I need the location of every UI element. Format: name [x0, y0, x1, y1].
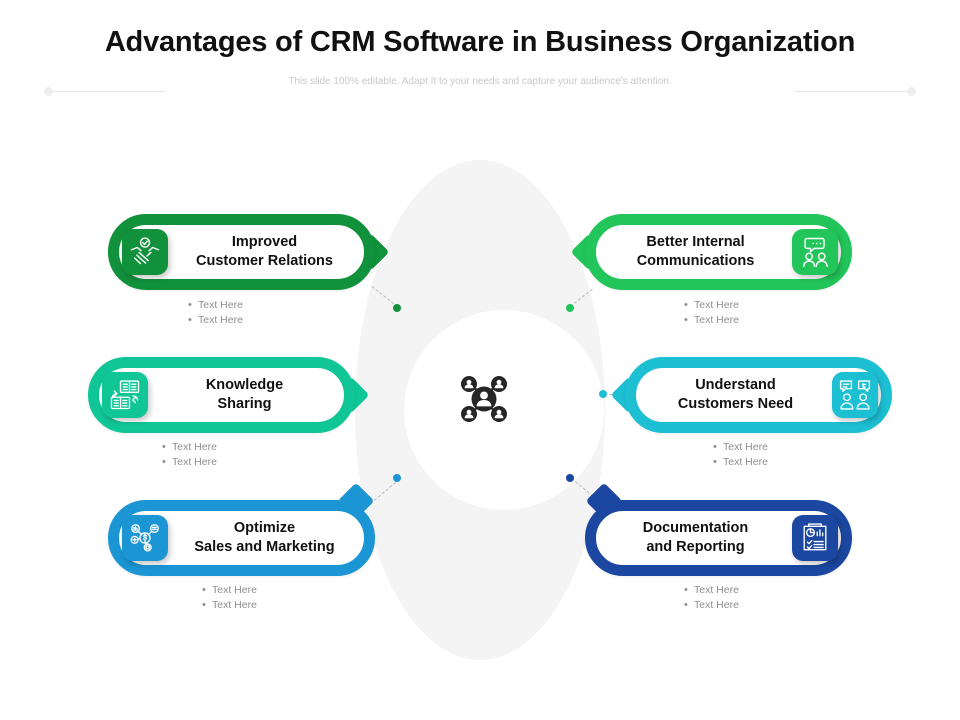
bullet-marker: •: [684, 583, 694, 598]
list-item: • Text Here: [713, 440, 913, 455]
bullet-label: Text Here: [212, 598, 402, 612]
card-title: Improved Customer Relations: [168, 233, 361, 270]
list-item: • Text Here: [202, 583, 402, 598]
list-item: • Text Here: [684, 298, 884, 313]
bullets-knowledge-sharing: • Text Here • Text Here: [162, 440, 362, 470]
card-title: Knowledge Sharing: [148, 376, 341, 413]
card-title-line2: Sharing: [218, 396, 272, 412]
clipboard-report-icon: [792, 515, 838, 561]
bullet-marker: •: [188, 313, 198, 328]
card-title-line1: Documentation: [643, 520, 749, 536]
bullet-label: Text Here: [694, 298, 884, 312]
card-title-line1: Better Internal: [646, 234, 744, 250]
card-understand-customers-need[interactable]: Understand Customers Need: [625, 357, 892, 433]
page-title: Advantages of CRM Software in Business O…: [0, 26, 960, 59]
page-subtitle: This slide 100% editable. Adapt It to yo…: [0, 76, 960, 87]
bullet-marker: •: [162, 440, 172, 455]
card-title: Understand Customers Need: [639, 376, 832, 413]
decorative-rule-right: [794, 91, 914, 92]
card-title-line1: Improved: [232, 234, 297, 250]
bullet-label: Text Here: [723, 455, 913, 469]
bullets-improved-customer-relations: • Text Here • Text Here: [188, 298, 388, 328]
list-item: • Text Here: [188, 313, 388, 328]
bullet-marker: •: [684, 298, 694, 313]
card-documentation-and-reporting[interactable]: Documentation and Reporting: [585, 500, 852, 576]
bullets-understand-customers-need: • Text Here • Text Here: [713, 440, 913, 470]
card-optimize-sales-and-marketing[interactable]: Optimize Sales and Marketing: [108, 500, 375, 576]
card-title: Documentation and Reporting: [599, 519, 792, 556]
bullets-better-internal-communications: • Text Here • Text Here: [684, 298, 884, 328]
list-item: • Text Here: [684, 583, 884, 598]
card-knowledge-sharing[interactable]: Knowledge Sharing: [88, 357, 355, 433]
bullet-label: Text Here: [212, 583, 402, 597]
connector-dot-improved-customer-relations: [393, 304, 401, 312]
card-title-line2: and Reporting: [646, 539, 744, 555]
connector-dot-documentation-and-reporting: [566, 474, 574, 482]
bullet-marker: •: [188, 298, 198, 313]
list-item: • Text Here: [684, 313, 884, 328]
bullet-marker: •: [162, 455, 172, 470]
bullet-marker: •: [202, 598, 212, 613]
list-item: • Text Here: [684, 598, 884, 613]
bullets-optimize-sales-and-marketing: • Text Here • Text Here: [202, 583, 402, 613]
list-item: • Text Here: [188, 298, 388, 313]
card-title: Optimize Sales and Marketing: [168, 519, 361, 556]
card-title-line2: Customers Need: [678, 396, 793, 412]
connector-dot-understand-customers-need: [599, 390, 607, 398]
handshake-check-icon: [122, 229, 168, 275]
list-item: • Text Here: [162, 455, 362, 470]
decorative-dot-right: [907, 87, 916, 96]
decorative-dot-left: [44, 87, 53, 96]
card-title-line1: Understand: [695, 377, 776, 393]
bullet-marker: •: [713, 455, 723, 470]
connector-dot-better-internal-communications: [566, 304, 574, 312]
bullet-label: Text Here: [723, 440, 913, 454]
card-title-line2: Sales and Marketing: [194, 539, 334, 555]
bullet-marker: •: [684, 313, 694, 328]
crm-network-people-icon: [448, 363, 520, 435]
card-improved-customer-relations[interactable]: Improved Customer Relations: [108, 214, 375, 290]
bullet-label: Text Here: [694, 583, 884, 597]
card-title-line2: Communications: [637, 253, 755, 269]
connector-dot-optimize-sales-and-marketing: [393, 474, 401, 482]
bullet-marker: •: [684, 598, 694, 613]
bullets-documentation-and-reporting: • Text Here • Text Here: [684, 583, 884, 613]
network-dollar-icon: [122, 515, 168, 561]
bullet-marker: •: [713, 440, 723, 455]
decorative-rule-left: [46, 91, 166, 92]
two-people-speech-icon: [832, 372, 878, 418]
list-item: • Text Here: [202, 598, 402, 613]
card-title-line1: Knowledge: [206, 377, 283, 393]
card-better-internal-communications[interactable]: Better Internal Communications: [585, 214, 852, 290]
chat-people-icon: [792, 229, 838, 275]
bullet-label: Text Here: [198, 298, 388, 312]
bullet-label: Text Here: [694, 598, 884, 612]
bullet-label: Text Here: [694, 313, 884, 327]
card-title-line1: Optimize: [234, 520, 295, 536]
list-item: • Text Here: [162, 440, 362, 455]
books-exchange-icon: [102, 372, 148, 418]
card-title: Better Internal Communications: [599, 233, 792, 270]
bullet-label: Text Here: [172, 455, 362, 469]
list-item: • Text Here: [713, 455, 913, 470]
bullet-label: Text Here: [198, 313, 388, 327]
bullet-marker: •: [202, 583, 212, 598]
bullet-label: Text Here: [172, 440, 362, 454]
card-title-line2: Customer Relations: [196, 253, 333, 269]
